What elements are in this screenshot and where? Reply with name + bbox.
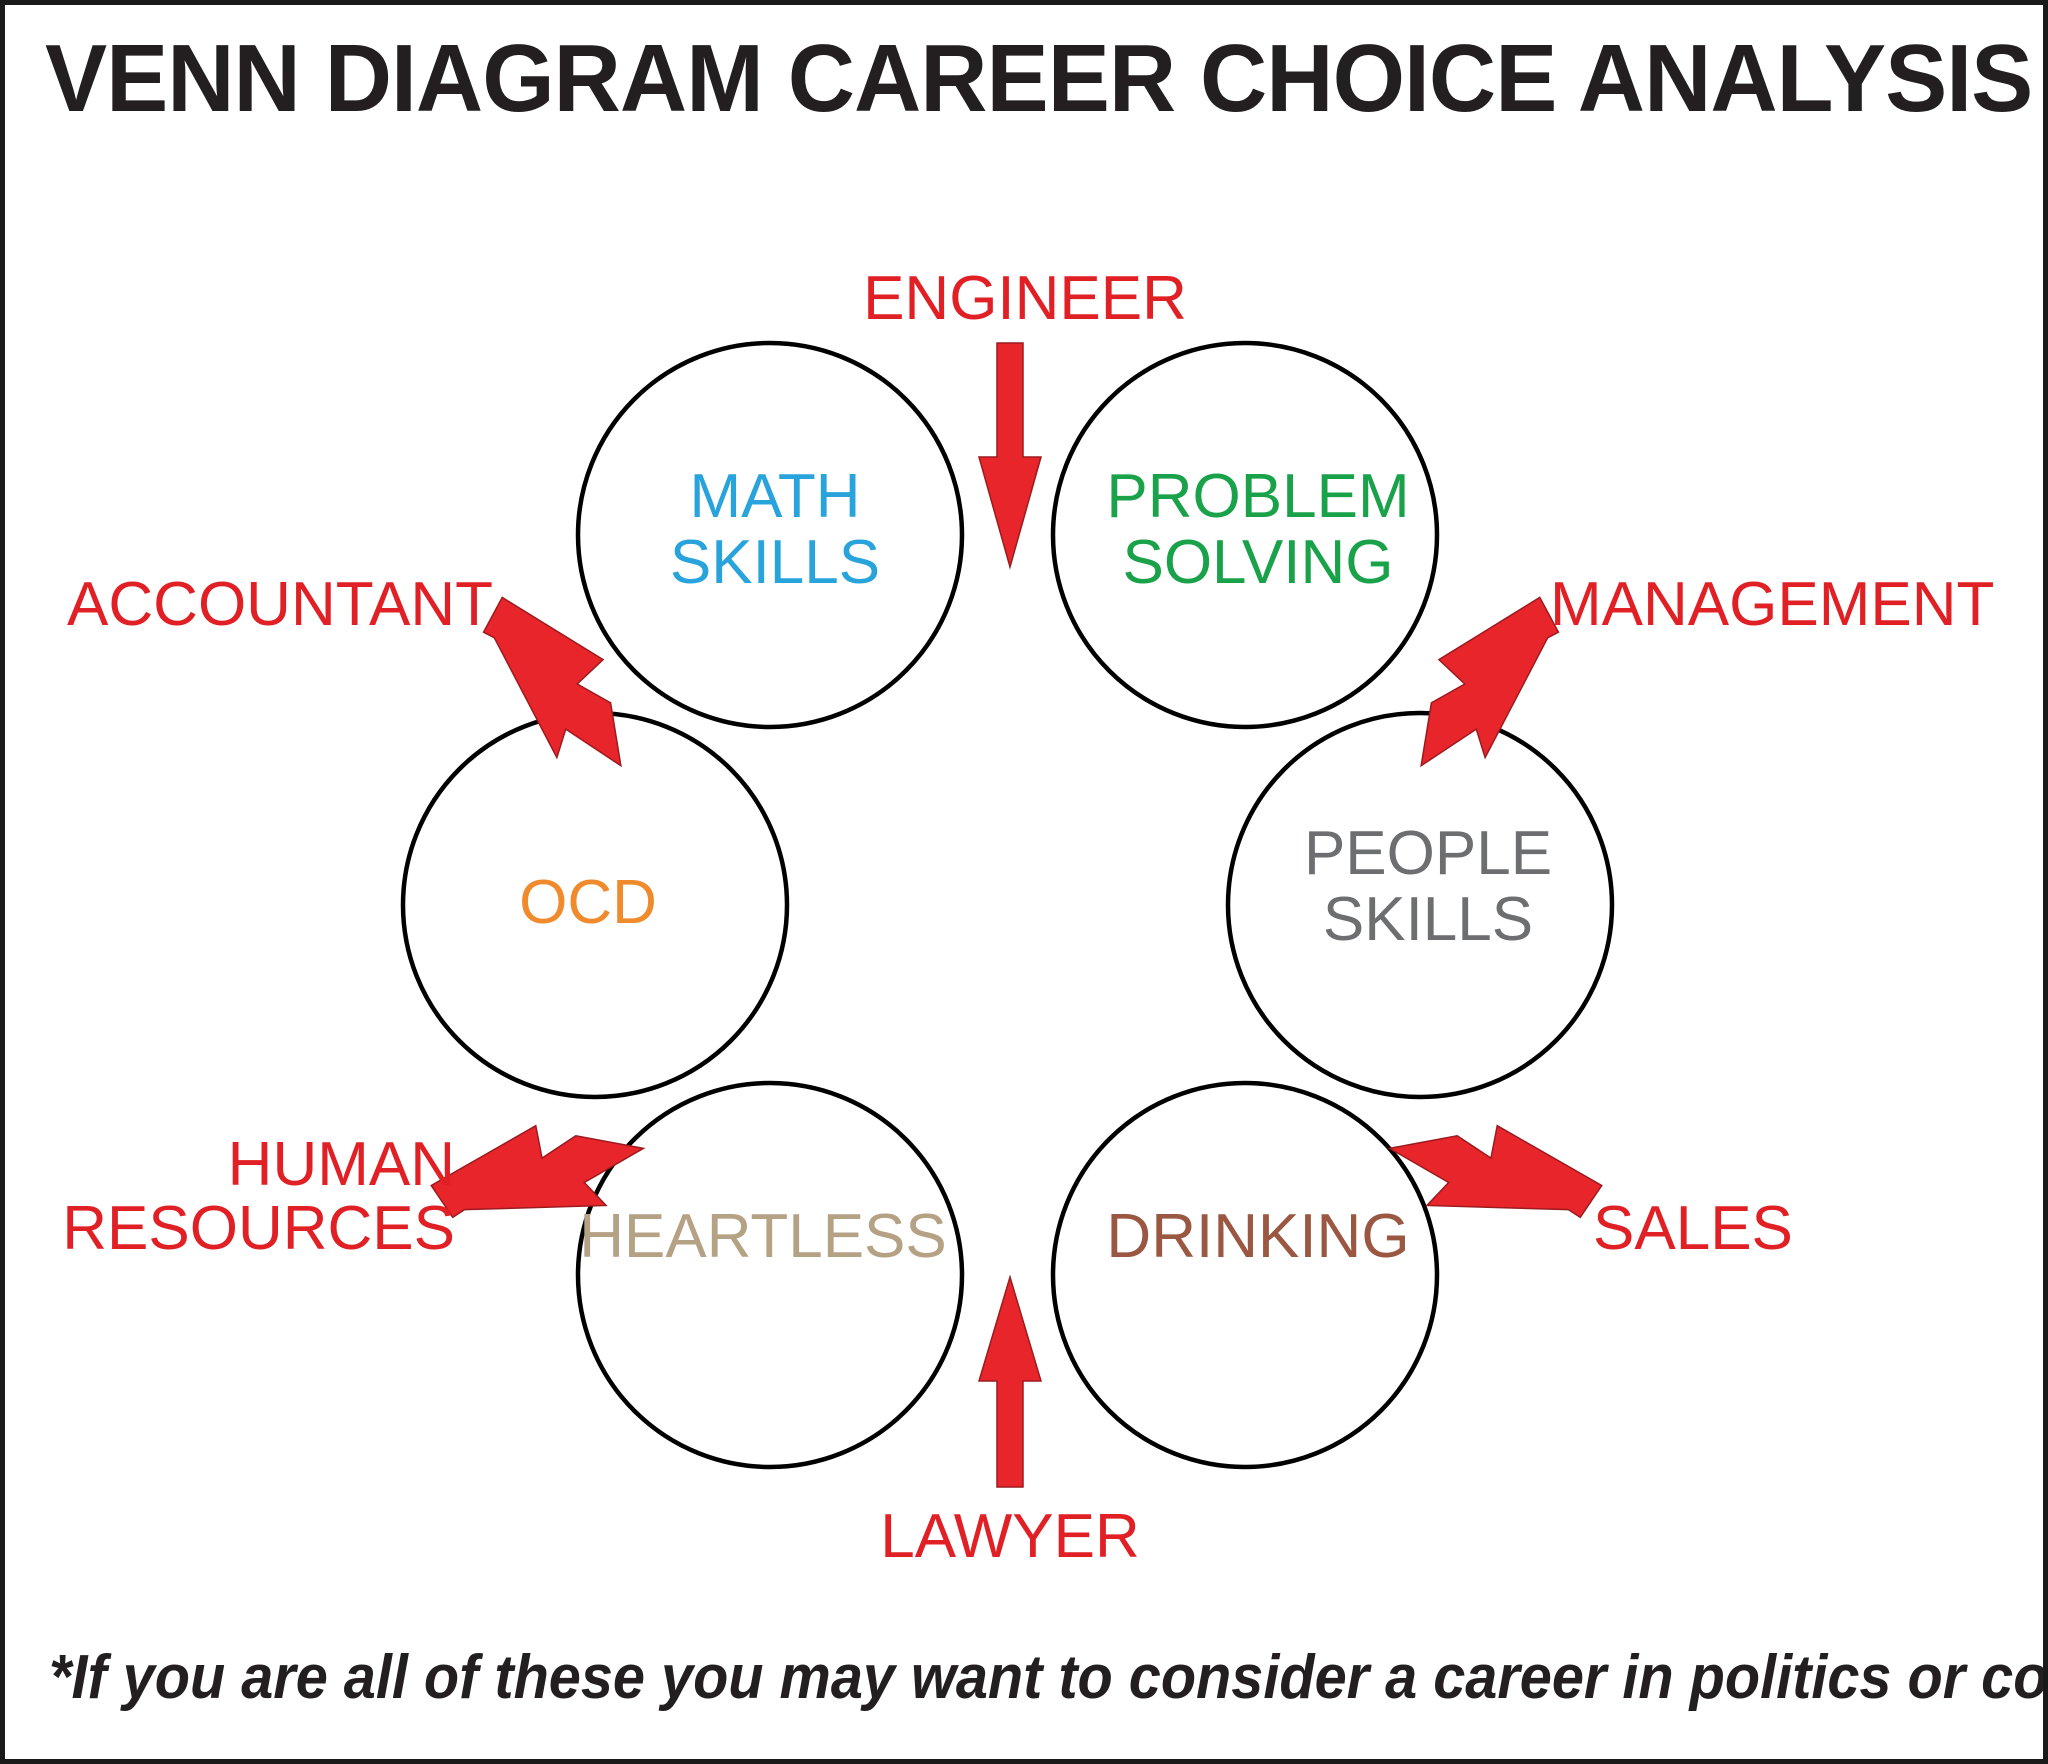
footnote-text: *If you are all of these you may want to…: [49, 1643, 1872, 1713]
set-circle-drinking: [1053, 1083, 1437, 1467]
venn-diagram-poster: VENN DIAGRAM CAREER CHOICE ANALYSIS: [0, 0, 2048, 1764]
career-label-sales: SALES: [1593, 1197, 1793, 1261]
set-label-ocd: OCD: [519, 870, 657, 936]
arrow-lawyer: [979, 1277, 1041, 1487]
career-label-engineer: ENGINEER: [863, 267, 1187, 331]
career-label-lawyer: LAWYER: [880, 1505, 1140, 1569]
arrow-engineer: [979, 343, 1041, 567]
career-label-accountant: ACCOUNTANT: [67, 573, 493, 637]
set-label-drinking: DRINKING: [1106, 1204, 1409, 1270]
set-label-people-skills: PEOPLE SKILLS: [1304, 821, 1552, 953]
career-label-management: MANAGEMENT: [1550, 573, 1994, 637]
set-label-problem-solving: PROBLEM SOLVING: [1106, 464, 1409, 596]
set-circle-heartless: [578, 1083, 962, 1467]
career-label-human-resources: HUMAN RESOURCES: [62, 1133, 455, 1261]
set-label-heartless: HEARTLESS: [579, 1204, 947, 1270]
set-label-math-skills: MATH SKILLS: [670, 464, 880, 596]
